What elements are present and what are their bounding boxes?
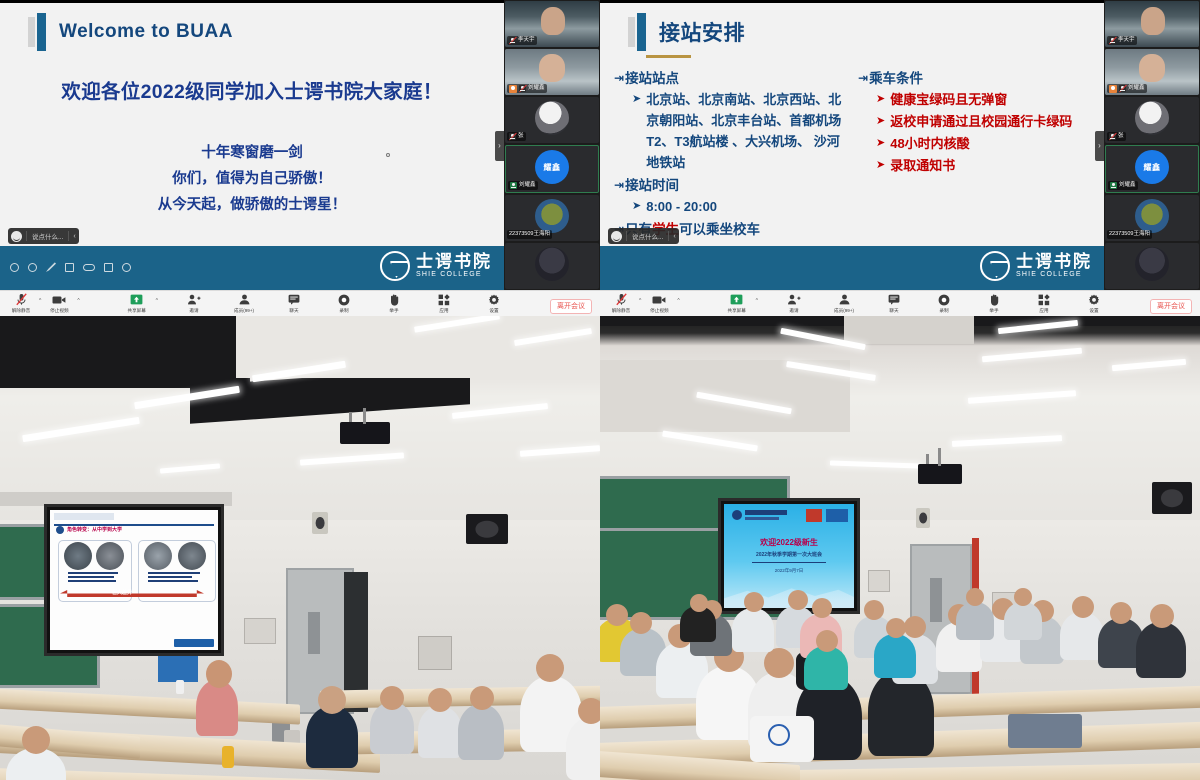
bullet-l1: ⇥接站时间 bbox=[614, 176, 852, 195]
toolbar-participants-button[interactable]: 成员(99+) bbox=[229, 293, 259, 314]
person-head bbox=[744, 592, 764, 612]
toolbar-button-label: 举手 bbox=[389, 307, 398, 314]
chevron-bullet-icon: ➤ bbox=[876, 89, 885, 110]
person-head bbox=[606, 604, 628, 626]
host-badge-icon bbox=[509, 85, 517, 93]
participant-tile[interactable]: 刘耀鑫 bbox=[1105, 49, 1199, 95]
participant-tile[interactable]: 李天宇 bbox=[1105, 1, 1199, 47]
zoom-window-left: Welcome to BUAA 欢迎各位2022级同学加入士谔书院大家庭！ 十年… bbox=[0, 0, 600, 316]
gallery-collapse-handle[interactable]: › bbox=[1095, 131, 1104, 161]
participant-name: 张 bbox=[1118, 132, 1124, 141]
projected-slide-date-right: 2022年9月7日 bbox=[724, 568, 854, 574]
person-head bbox=[206, 660, 232, 688]
invite-icon bbox=[787, 293, 801, 306]
mic-muted-icon bbox=[1109, 37, 1116, 44]
chevron-up-icon[interactable]: ^ bbox=[77, 298, 79, 304]
person-head bbox=[864, 600, 884, 620]
shared-screen-area[interactable]: 接站安排 ⇥接站站点 ➤北京站、北京南站、北京西站、北京朝阳站、北京丰台站、首都… bbox=[600, 0, 1104, 290]
mic-muted-icon bbox=[1109, 133, 1116, 140]
person-head bbox=[380, 686, 404, 710]
toolbar-invite-button[interactable]: 邀请 bbox=[779, 293, 809, 314]
projected-slide-subtitle-right: 2022年秋季学期第一次大班会 bbox=[724, 551, 854, 558]
person-head bbox=[1150, 604, 1174, 628]
collapse-caret-icon[interactable]: ‹ bbox=[673, 233, 675, 240]
projector bbox=[918, 464, 962, 484]
door-window bbox=[930, 578, 942, 622]
toolbar-chat-button[interactable]: 聊天 bbox=[279, 293, 309, 314]
annot-undo-icon[interactable] bbox=[104, 263, 113, 272]
bullet-l2: ➤48小时内核酸 bbox=[876, 133, 1096, 154]
annot-eraser-icon[interactable] bbox=[83, 264, 95, 271]
participant-name: 刘耀鑫 bbox=[1128, 84, 1145, 93]
settings-gear-icon bbox=[1088, 293, 1100, 306]
poster bbox=[158, 656, 198, 682]
slide-column-right: ⇥乘车条件 ➤健康宝绿码且无弹窗 ➤返校申请通过且校园通行卡绿码 ➤48小时内核… bbox=[858, 66, 1096, 239]
person-head bbox=[630, 612, 652, 634]
participant-tile[interactable]: 张 bbox=[1105, 97, 1199, 143]
person bbox=[196, 680, 238, 736]
person-head bbox=[318, 686, 346, 714]
bullet-l2: ➤健康宝绿码且无弹窗 bbox=[876, 89, 1096, 110]
participant-namebar: 刘耀鑫 bbox=[1107, 84, 1147, 93]
toolbar-button-label: 录制 bbox=[339, 307, 348, 314]
person-head bbox=[1072, 596, 1094, 618]
composite-screenshot: 角色转变：从中学到大学 巨大差异 bbox=[0, 0, 1200, 780]
shie-logo-text: 士谔书院 SHIE COLLEGE bbox=[1016, 253, 1092, 280]
video-camera-icon bbox=[52, 293, 66, 306]
shie-logo-mark-icon bbox=[380, 251, 410, 281]
person-head bbox=[690, 594, 708, 612]
toolbar-button-label: 停止视频 bbox=[50, 307, 68, 314]
participant-namebar: 李天宇 bbox=[1107, 36, 1137, 45]
participant-name: 刘耀鑫 bbox=[1119, 181, 1136, 190]
wall-panel bbox=[244, 618, 276, 644]
chevron-up-icon[interactable]: ^ bbox=[756, 298, 758, 304]
mic-muted-icon bbox=[509, 133, 516, 140]
participant-gallery[interactable]: 李天宇 刘耀鑫 bbox=[1104, 0, 1200, 290]
photo-classroom-left: 角色转变：从中学到大学 巨大差异 bbox=[0, 316, 600, 780]
participant-name: 李天宇 bbox=[518, 36, 535, 45]
wall-panel bbox=[868, 570, 890, 592]
chat-icon bbox=[288, 293, 300, 306]
participant-tile[interactable]: 22373509王海阳 bbox=[505, 195, 599, 241]
person-head bbox=[1110, 602, 1132, 624]
photo-row: 角色转变：从中学到大学 巨大差异 bbox=[0, 316, 1200, 780]
mic-muted-icon bbox=[616, 293, 627, 306]
zoom-stage: Welcome to BUAA 欢迎各位2022级同学加入士谔书院大家庭！ 十年… bbox=[0, 0, 600, 290]
toolbar-button-label: 邀请 bbox=[789, 307, 798, 314]
participant-name: 张 bbox=[518, 132, 524, 141]
reaction-chat-bar[interactable]: 说点什么... ‹ bbox=[608, 228, 679, 244]
toolbar-stop-video-button[interactable]: 停止视频 bbox=[644, 293, 674, 314]
toolbar-left-group[interactable]: 解除静音 ^ 停止视频 ^ bbox=[0, 293, 81, 314]
leave-meeting-button[interactable]: 离开会议 bbox=[1150, 299, 1192, 314]
raise-hand-icon bbox=[389, 293, 400, 306]
participant-avatar-initials: 耀鑫 bbox=[535, 150, 569, 184]
participant-namebar: 张 bbox=[1107, 132, 1126, 141]
slide-column-left: ⇥接站站点 ➤北京站、北京南站、北京西站、北京朝阳站、北京丰台站、首都机场T2、… bbox=[614, 66, 852, 239]
bullet-l1: ⇥接站站点 bbox=[614, 69, 852, 88]
person-head bbox=[904, 616, 926, 638]
toolbar-unmute-button[interactable]: 解除静音 bbox=[606, 293, 636, 314]
toolbar-button-label: 邀请 bbox=[189, 307, 198, 314]
apps-icon bbox=[1038, 293, 1050, 306]
toolbar-record-button[interactable]: 录制 bbox=[929, 293, 959, 314]
participant-tile[interactable] bbox=[1105, 243, 1199, 289]
toolbar-button-label: 举手 bbox=[989, 307, 998, 314]
annotation-tools-row[interactable] bbox=[10, 262, 131, 272]
toolbar-button-label: 聊天 bbox=[889, 307, 898, 314]
zoom-window-right: 接站安排 ⇥接站站点 ➤北京站、北京南站、北京西站、北京朝阳站、北京丰台站、首都… bbox=[600, 0, 1200, 316]
participant-name: 22373509王海阳 bbox=[509, 230, 550, 239]
chevron-bullet-icon: ➤ bbox=[876, 133, 885, 154]
annot-stamp-icon[interactable] bbox=[65, 263, 74, 272]
mic-muted-icon bbox=[509, 37, 516, 44]
wall-panel bbox=[418, 636, 452, 670]
toolbar-center-group[interactable]: 共享屏幕 ^ 邀请 成员(99+) bbox=[681, 293, 1150, 314]
chevron-up-icon[interactable]: ^ bbox=[677, 298, 679, 304]
person bbox=[732, 608, 774, 652]
toolbar-apps-button[interactable]: 应用 bbox=[429, 293, 459, 314]
invite-icon bbox=[187, 293, 201, 306]
participant-tile[interactable]: 刘耀鑫 bbox=[505, 49, 599, 95]
toolbar-center-group[interactable]: 共享屏幕 ^ 邀请 成员(99+) bbox=[81, 293, 550, 314]
person bbox=[306, 706, 358, 768]
participant-avatar bbox=[1135, 199, 1169, 233]
photo-classroom-right: 欢迎2022级新生 2022年秋季学期第一次大班会 2022年9月7日 bbox=[600, 316, 1200, 780]
participant-avatar bbox=[535, 247, 569, 281]
toolbar-settings-button[interactable]: 设置 bbox=[1079, 293, 1109, 314]
person bbox=[956, 602, 994, 640]
toolbar-raise-hand-button[interactable]: 举手 bbox=[379, 293, 409, 314]
toolbar-stop-video-button[interactable]: 停止视频 bbox=[44, 293, 74, 314]
toolbar-apps-button[interactable]: 应用 bbox=[1029, 293, 1059, 314]
participants-icon bbox=[838, 293, 851, 306]
person bbox=[458, 704, 504, 760]
video-camera-icon bbox=[652, 293, 666, 306]
participant-tile-active[interactable]: 耀鑫 刘耀鑫 bbox=[505, 145, 599, 193]
say-something-input[interactable]: 说点什么... bbox=[26, 231, 69, 241]
mouse-cursor-dot bbox=[386, 153, 390, 157]
participant-name: 李天宇 bbox=[1118, 36, 1135, 45]
person bbox=[874, 634, 916, 678]
slide-sublines: 十年寒窗磨一剑 你们，值得为自己骄傲！ 从今天起，做骄傲的士谔星！ bbox=[0, 140, 504, 218]
toolbar-button-label: 共享屏幕 bbox=[727, 307, 745, 314]
person bbox=[804, 646, 848, 690]
toolbar-raise-hand-button[interactable]: 举手 bbox=[979, 293, 1009, 314]
slide-title: 接站安排 bbox=[659, 17, 745, 47]
display-screen: 角色转变：从中学到大学 巨大差异 bbox=[44, 504, 224, 656]
reaction-chat-bar[interactable]: 说点什么... ‹ bbox=[8, 228, 79, 244]
door-window bbox=[308, 612, 320, 654]
projection-screen-content: 欢迎2022级新生 2022年秋季学期第一次大班会 2022年9月7日 bbox=[724, 504, 854, 608]
toolbar-button-label: 应用 bbox=[439, 307, 448, 314]
toolbar-chat-button[interactable]: 聊天 bbox=[879, 293, 909, 314]
chevron-bullet-icon: ➤ bbox=[876, 155, 885, 176]
person-head bbox=[1014, 588, 1032, 606]
slide-subline: 你们，值得为自己骄傲！ bbox=[0, 166, 504, 192]
projector bbox=[340, 422, 390, 444]
toolbar-invite-button[interactable]: 邀请 bbox=[179, 293, 209, 314]
chair bbox=[1008, 714, 1082, 748]
record-icon bbox=[938, 293, 950, 306]
person-head bbox=[816, 630, 838, 652]
projected-slide-title-left: 角色转变：从中学到大学 bbox=[67, 526, 122, 533]
arrow-bullet-icon: ⇥ bbox=[614, 176, 624, 195]
bottle bbox=[222, 746, 234, 768]
toolbar-button-label: 应用 bbox=[1039, 307, 1048, 314]
shie-college-logo: 士谔书院 SHIE COLLEGE bbox=[380, 251, 492, 281]
ceiling-panel bbox=[844, 316, 974, 344]
participant-tile[interactable] bbox=[505, 243, 599, 289]
person-head bbox=[22, 726, 50, 754]
person-head bbox=[536, 654, 564, 682]
toolbar-button-label: 成员(99+) bbox=[834, 307, 854, 314]
participant-namebar: 刘耀鑫 bbox=[507, 84, 547, 93]
participant-tile-active[interactable]: 耀鑫 刘耀鑫 bbox=[1105, 145, 1199, 193]
participant-namebar: 刘耀鑫 bbox=[508, 181, 538, 190]
slide-footer-bar: 士谔书院 SHIE COLLEGE bbox=[600, 246, 1104, 290]
participant-gallery[interactable]: 李天宇 刘耀鑫 bbox=[504, 0, 600, 290]
slide-subline: 十年寒窗磨一剑 bbox=[0, 140, 504, 166]
share-screen-icon bbox=[130, 293, 143, 306]
emoji-icon[interactable] bbox=[611, 231, 622, 242]
title-accent-blue bbox=[37, 13, 46, 51]
chevron-bullet-icon: ➤ bbox=[632, 196, 641, 217]
wall-speaker bbox=[312, 512, 328, 534]
toolbar-record-button[interactable]: 录制 bbox=[329, 293, 359, 314]
projector-mount bbox=[363, 408, 366, 424]
participant-namebar: 22373509王海阳 bbox=[507, 230, 552, 239]
annot-pen-icon[interactable] bbox=[46, 262, 56, 272]
slide-title-row: 接站安排 bbox=[600, 3, 1104, 51]
toolbar-button-label: 成员(99+) bbox=[234, 307, 254, 314]
person-head bbox=[470, 686, 494, 710]
apps-icon bbox=[438, 293, 450, 306]
bullet-l2: ➤8:00 - 20:00 bbox=[632, 196, 852, 217]
participant-tile[interactable]: 李天宇 bbox=[505, 1, 599, 47]
participant-namebar: 张 bbox=[507, 132, 526, 141]
say-something-input[interactable]: 说点什么... bbox=[626, 231, 669, 241]
toolbar-button-label: 共享屏幕 bbox=[127, 307, 145, 314]
person-head bbox=[578, 698, 600, 724]
chevron-bullet-icon: ➤ bbox=[632, 89, 641, 110]
annot-spotlight-icon[interactable] bbox=[28, 263, 37, 272]
participant-avatar bbox=[1135, 101, 1169, 135]
participant-namebar: 李天宇 bbox=[507, 36, 537, 45]
collapse-caret-icon[interactable]: ‹ bbox=[73, 233, 75, 240]
bullet-l2: ➤北京站、北京南站、北京西站、北京朝阳站、北京丰台站、首都机场T2、T3航站楼 … bbox=[632, 89, 852, 173]
participant-name: 刘耀鑫 bbox=[528, 84, 545, 93]
wall-speaker bbox=[916, 508, 930, 528]
projected-slide-label-left: 巨大差异 bbox=[112, 589, 132, 596]
title-accent-grey bbox=[628, 17, 635, 47]
shie-logo-text: 士谔书院 SHIE COLLEGE bbox=[416, 253, 492, 280]
person bbox=[1136, 622, 1186, 678]
title-accent-blue bbox=[637, 13, 646, 51]
emoji-icon[interactable] bbox=[11, 231, 22, 242]
title-accent-grey bbox=[28, 17, 35, 47]
participant-avatar bbox=[535, 199, 569, 233]
mic-active-icon bbox=[1110, 182, 1117, 189]
ceiling-recess bbox=[0, 316, 250, 388]
bullet-l1: ⇥乘车条件 bbox=[858, 69, 1096, 88]
person-head bbox=[812, 598, 832, 618]
chat-icon bbox=[888, 293, 900, 306]
person-head bbox=[788, 590, 808, 610]
raise-hand-icon bbox=[989, 293, 1000, 306]
participant-tile[interactable]: 张 bbox=[505, 97, 599, 143]
speaker bbox=[1152, 482, 1192, 514]
display-screen-content: 角色转变：从中学到大学 巨大差异 bbox=[50, 510, 218, 650]
toolbar-button-label: 聊天 bbox=[289, 307, 298, 314]
mic-active-icon bbox=[510, 182, 517, 189]
arrow-bullet-icon: ⇥ bbox=[858, 69, 868, 88]
toolbar-button-label: 设置 bbox=[489, 307, 498, 314]
speaker bbox=[466, 514, 508, 544]
share-screen-icon bbox=[730, 293, 743, 306]
bullet-l2: ➤返校申请通过且校园通行卡绿码 bbox=[876, 111, 1096, 132]
mic-muted-icon bbox=[16, 293, 27, 306]
gallery-collapse-handle[interactable]: › bbox=[495, 131, 504, 161]
toolbar-left-group[interactable]: 解除静音 ^ 停止视频 ^ bbox=[600, 293, 681, 314]
toolbar-right-group[interactable]: 离开会议 bbox=[1150, 295, 1200, 313]
slide-body: 接站安排 ⇥接站站点 ➤北京站、北京南站、北京西站、北京朝阳站、北京丰台站、首都… bbox=[600, 3, 1104, 246]
participant-avatar-initials: 耀鑫 bbox=[1135, 150, 1169, 184]
mic-muted-icon bbox=[519, 85, 526, 92]
bullet-l2: ➤录取通知书 bbox=[876, 155, 1096, 176]
shared-screen-area[interactable]: Welcome to BUAA 欢迎各位2022级同学加入士谔书院大家庭！ 十年… bbox=[0, 0, 504, 290]
toolbar-button-label: 录制 bbox=[939, 307, 948, 314]
record-icon bbox=[338, 293, 350, 306]
slide-headline: 欢迎各位2022级同学加入士谔书院大家庭！ bbox=[0, 75, 504, 104]
slide-welcome: Welcome to BUAA 欢迎各位2022级同学加入士谔书院大家庭！ 十年… bbox=[0, 3, 504, 290]
toolbar-button-label: 设置 bbox=[1089, 307, 1098, 314]
projector-mount bbox=[938, 448, 941, 466]
participant-namebar: 22373509王海阳 bbox=[1107, 230, 1152, 239]
person bbox=[1004, 602, 1042, 640]
person bbox=[418, 706, 462, 758]
slide-subline: 从今天起，做骄傲的士谔星！ bbox=[0, 192, 504, 218]
toolbar-button-label: 停止视频 bbox=[650, 307, 668, 314]
zoom-stage: 接站安排 ⇥接站站点 ➤北京站、北京南站、北京西站、北京朝阳站、北京丰台站、首都… bbox=[600, 0, 1200, 290]
slide-pickup-arrangements: 接站安排 ⇥接站站点 ➤北京站、北京南站、北京西站、北京朝阳站、北京丰台站、首都… bbox=[600, 3, 1104, 290]
zoom-windows-row: Welcome to BUAA 欢迎各位2022级同学加入士谔书院大家庭！ 十年… bbox=[0, 0, 1200, 316]
cup bbox=[176, 680, 184, 694]
toolbar-button-label: 解除静音 bbox=[612, 307, 630, 314]
person-head bbox=[886, 618, 906, 638]
chevron-up-icon[interactable]: ^ bbox=[156, 298, 158, 304]
participant-tile[interactable]: 22373509王海阳 bbox=[1105, 195, 1199, 241]
participant-avatar bbox=[535, 101, 569, 135]
participants-icon bbox=[238, 293, 251, 306]
slide-columns: ⇥接站站点 ➤北京站、北京南站、北京西站、北京朝阳站、北京丰台站、首都机场T2、… bbox=[600, 58, 1104, 239]
chevron-up-icon[interactable]: ^ bbox=[39, 298, 41, 304]
toolbar-share-screen-button[interactable]: 共享屏幕 bbox=[722, 293, 752, 314]
mic-muted-icon bbox=[1119, 85, 1126, 92]
slide-title-row: Welcome to BUAA bbox=[0, 3, 504, 51]
arrow-bullet-icon: ⇥ bbox=[614, 69, 624, 88]
toolbar-button-label: 解除静音 bbox=[12, 307, 30, 314]
toolbar-right-group[interactable]: 离开会议 bbox=[550, 295, 600, 313]
toolbar-unmute-button[interactable]: 解除静音 bbox=[6, 293, 36, 314]
host-badge-icon bbox=[1109, 85, 1117, 93]
settings-gear-icon bbox=[488, 293, 500, 306]
slide-title: Welcome to BUAA bbox=[59, 21, 233, 43]
projected-slide-title-right: 欢迎2022级新生 bbox=[724, 537, 854, 548]
zoom-toolbar[interactable]: 解除静音 ^ 停止视频 ^ bbox=[600, 290, 1200, 316]
slide-center-block: 欢迎各位2022级同学加入士谔书院大家庭！ 十年寒窗磨一剑 你们，值得为自己骄傲… bbox=[0, 75, 504, 218]
zoom-toolbar[interactable]: 解除静音 ^ 停止视频 ^ bbox=[0, 290, 600, 316]
toolbar-settings-button[interactable]: 设置 bbox=[479, 293, 509, 314]
annot-more-icon[interactable] bbox=[122, 263, 131, 272]
participant-namebar: 刘耀鑫 bbox=[1108, 181, 1138, 190]
chevron-bullet-icon: ➤ bbox=[876, 111, 885, 132]
person-head bbox=[764, 648, 794, 678]
toolbar-participants-button[interactable]: 成员(99+) bbox=[829, 293, 859, 314]
participant-avatar bbox=[1135, 247, 1169, 281]
shie-college-logo: 士谔书院 SHIE COLLEGE bbox=[980, 251, 1092, 281]
annot-select-icon[interactable] bbox=[10, 263, 19, 272]
participant-name: 刘耀鑫 bbox=[519, 181, 536, 190]
participant-name: 22373509王海阳 bbox=[1109, 230, 1150, 239]
toolbar-share-screen-button[interactable]: 共享屏幕 bbox=[122, 293, 152, 314]
slide-body: Welcome to BUAA 欢迎各位2022级同学加入士谔书院大家庭！ 十年… bbox=[0, 3, 504, 246]
person-head bbox=[428, 688, 452, 712]
chevron-up-icon[interactable]: ^ bbox=[639, 298, 641, 304]
shie-logo-mark-icon bbox=[980, 251, 1010, 281]
shirt-logo-icon bbox=[768, 724, 790, 746]
leave-meeting-button[interactable]: 离开会议 bbox=[550, 299, 592, 314]
person-head bbox=[966, 588, 984, 606]
